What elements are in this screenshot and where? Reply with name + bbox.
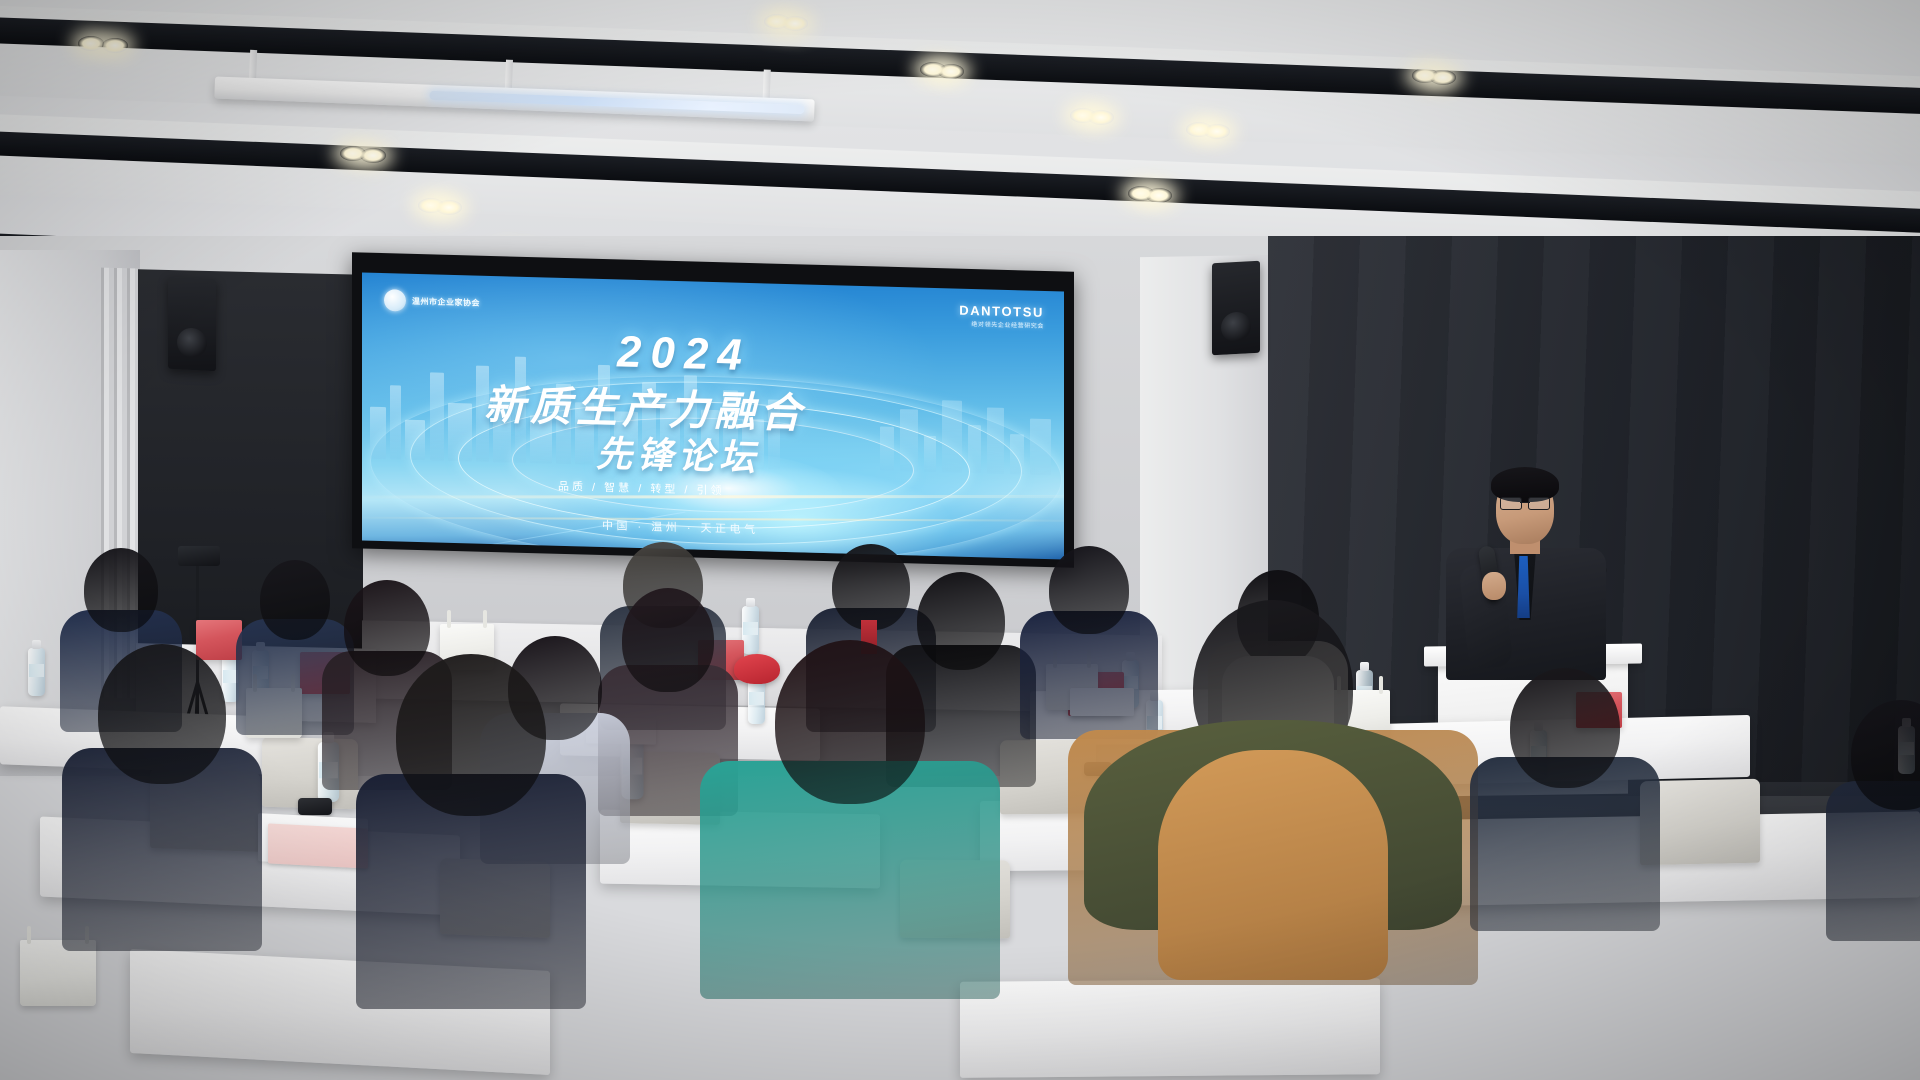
ceiling-spotlight: [360, 148, 386, 163]
wall-mounted-loudspeaker-right: [1212, 261, 1260, 356]
ceiling-spotlight: [1204, 124, 1230, 139]
screen-title-line-2: 先锋论坛: [596, 425, 760, 481]
ceiling-spotlight: [1146, 188, 1172, 203]
paper-document: [268, 823, 368, 868]
attendee-head: [775, 640, 925, 804]
ceiling-spotlight: [78, 36, 104, 51]
attendee-head: [344, 580, 430, 676]
wall-mounted-loudspeaker-left: [168, 277, 216, 372]
dantotsu-logo-subtext: 绝对领先企业经营研究会: [959, 319, 1044, 330]
water-bottle: [742, 606, 759, 654]
presenter-hand: [1482, 572, 1506, 600]
tan-jacket-panel: [1158, 750, 1388, 980]
presenter-eyeglasses: [1500, 497, 1550, 509]
ceiling-spotlight: [782, 16, 808, 31]
ceiling-spotlight: [102, 38, 128, 53]
ceiling-spotlight: [1088, 110, 1114, 125]
smartphone-on-table: [298, 798, 332, 815]
led-screen-frame: 温州市企业家协会 DANTOTSU 绝对领先企业经营研究会 2024 新质生产力…: [352, 252, 1074, 568]
conference-hall-photo: 温州市企业家协会 DANTOTSU 绝对领先企业经营研究会 2024 新质生产力…: [0, 0, 1920, 1080]
screen-year: 2024: [617, 327, 751, 381]
attendee-head: [260, 560, 330, 640]
screen-logo-right: DANTOTSU 绝对领先企业经营研究会: [959, 303, 1044, 330]
attendee-head: [1049, 546, 1129, 634]
water-bottle: [28, 648, 45, 696]
attendee-head: [84, 548, 158, 632]
attendee-head: [832, 544, 910, 630]
ceiling-spotlight: [1430, 70, 1456, 85]
dantotsu-logo-text: DANTOTSU: [959, 303, 1044, 320]
screen-logo-left-text: 温州市企业家协会: [412, 295, 480, 308]
attendee-head: [98, 644, 226, 784]
conference-table: [960, 978, 1380, 1078]
led-screen: 温州市企业家协会 DANTOTSU 绝对领先企业经营研究会 2024 新质生产力…: [362, 273, 1064, 560]
attendee-head: [396, 654, 546, 816]
attendee-head: [622, 588, 714, 692]
circle-logo-icon: [384, 289, 406, 312]
ceiling-spotlight: [436, 200, 462, 215]
ceiling-spotlight: [938, 64, 964, 79]
attendee-head: [1510, 668, 1620, 788]
screen-logo-left: 温州市企业家协会: [384, 289, 480, 314]
attendee-head: [917, 572, 1005, 670]
presenter-at-podium: [1430, 468, 1620, 678]
red-hair-bow: [734, 654, 780, 684]
